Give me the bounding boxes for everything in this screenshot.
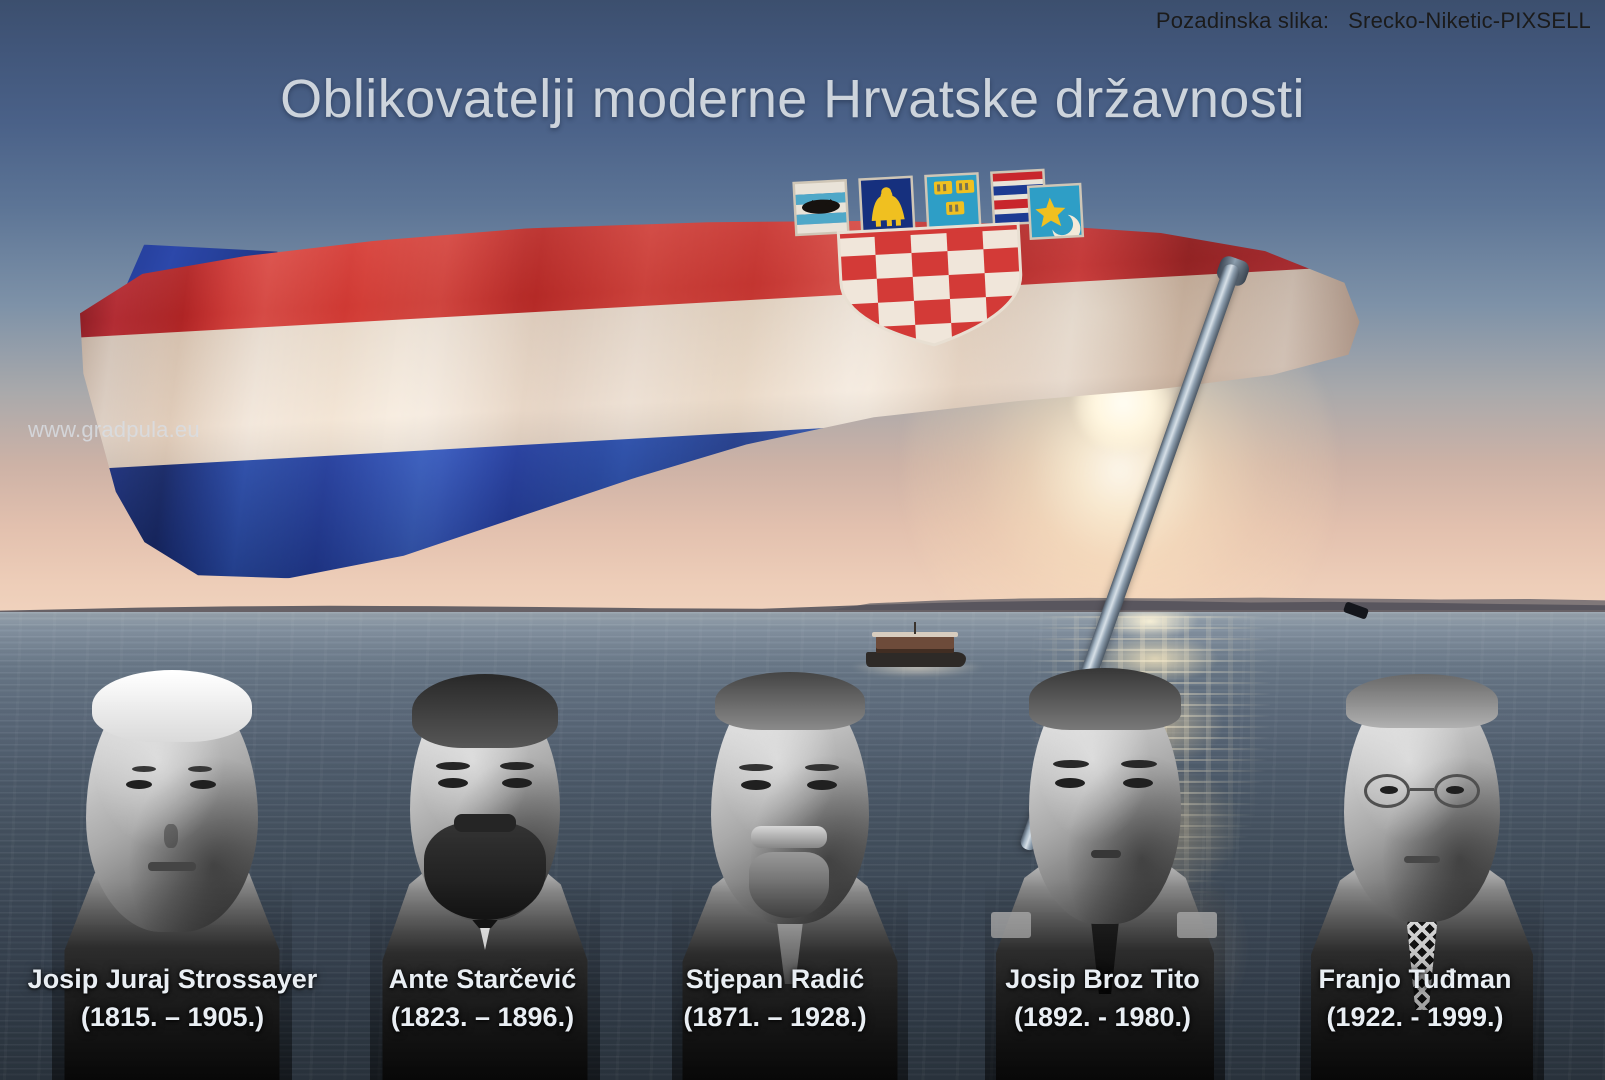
figure-years-1: (1823. – 1896.) xyxy=(345,998,620,1036)
figure-name-2: Stjepan Radić xyxy=(686,964,865,994)
figure-label-0: Josip Juraj Strossayer (1815. – 1905.) xyxy=(0,960,345,1036)
figure-label-4: Franjo Tuđman (1922. - 1999.) xyxy=(1265,960,1565,1036)
croatian-flag xyxy=(70,130,1490,590)
portrait-beard xyxy=(749,852,829,918)
figure-name-0: Josip Juraj Strossayer xyxy=(28,964,318,994)
croatian-coat-of-arms xyxy=(765,162,1094,363)
coa-crownlet-5 xyxy=(1028,184,1083,244)
background-image-credit: Pozadinska slika: Srecko-Niketic-PIXSELL xyxy=(1156,8,1591,34)
portrait-head xyxy=(711,676,869,924)
coa-crownlet-3 xyxy=(925,173,980,228)
figure-labels: Josip Juraj Strossayer (1815. – 1905.) A… xyxy=(0,960,1605,1070)
portrait-epaulette-left xyxy=(991,912,1031,938)
portrait-head xyxy=(410,680,560,920)
portrait-moustache xyxy=(751,826,827,848)
page-title: Oblikovatelji moderne Hrvatske državnost… xyxy=(0,68,1605,130)
figure-name-1: Ante Starčević xyxy=(389,964,577,994)
figure-label-2: Stjepan Radić (1871. – 1928.) xyxy=(630,960,920,1036)
portrait-epaulette-right xyxy=(1177,912,1217,938)
portrait-head xyxy=(86,674,258,932)
portrait-head xyxy=(1029,674,1181,924)
portrait-head xyxy=(1344,678,1500,922)
figure-years-3: (1892. - 1980.) xyxy=(955,998,1250,1036)
coa-shield xyxy=(828,215,1035,360)
figure-years-0: (1815. – 1905.) xyxy=(0,998,345,1036)
figure-name-4: Franjo Tuđman xyxy=(1319,964,1512,994)
figure-label-1: Ante Starčević (1823. – 1896.) xyxy=(345,960,620,1036)
portrait-beard xyxy=(424,822,546,920)
figure-name-3: Josip Broz Tito xyxy=(1005,964,1200,994)
poster-canvas: Pozadinska slika: Srecko-Niketic-PIXSELL… xyxy=(0,0,1605,1080)
coa-crownlet-1 xyxy=(794,180,849,235)
coa-crownlet-2 xyxy=(860,177,915,232)
flag-cloth xyxy=(61,130,1371,601)
website-watermark: www.gradpula.eu xyxy=(28,417,200,443)
figure-years-2: (1871. – 1928.) xyxy=(630,998,920,1036)
flag-vertical-shading xyxy=(61,130,1371,601)
figure-label-3: Josip Broz Tito (1892. - 1980.) xyxy=(955,960,1250,1036)
figure-years-4: (1922. - 1999.) xyxy=(1265,998,1565,1036)
